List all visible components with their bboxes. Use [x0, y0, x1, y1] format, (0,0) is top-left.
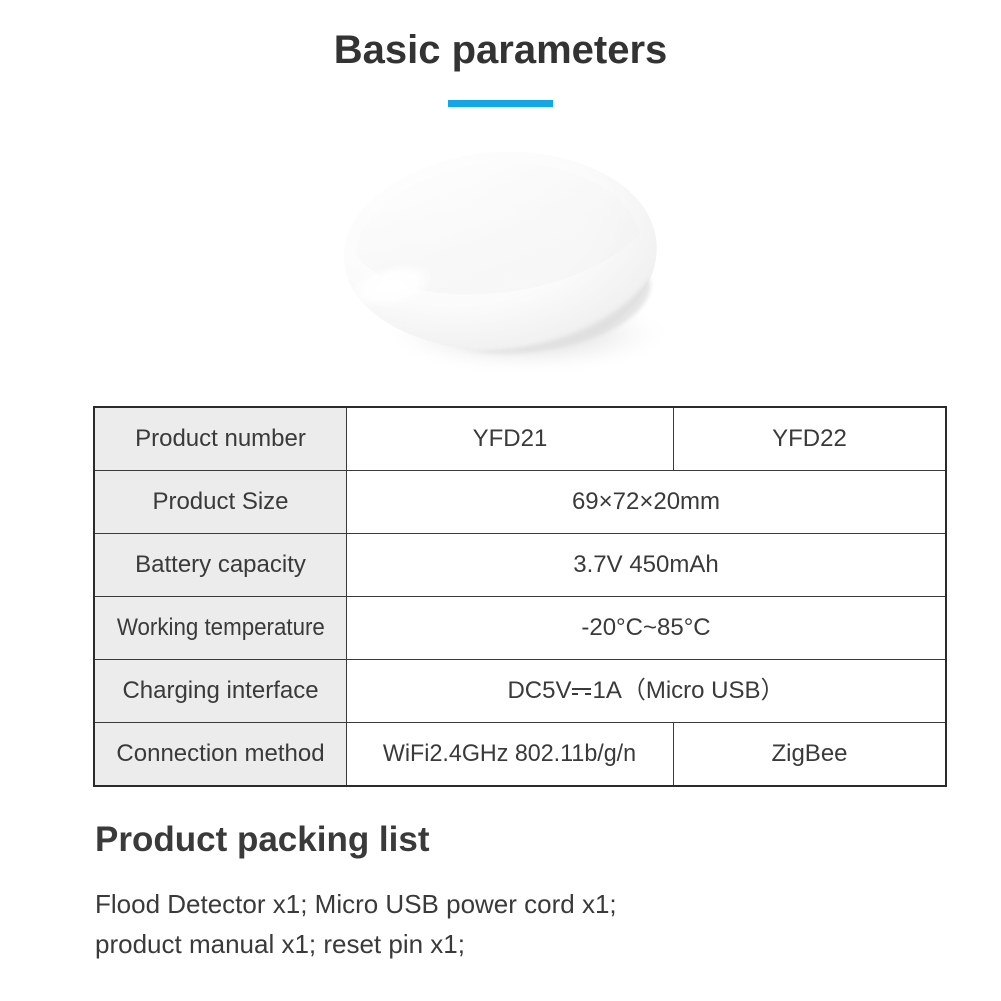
- spec-value-working-temperature: -20°C~85°C: [347, 597, 947, 660]
- specifications-table: Product number YFD21 YFD22 Product Size …: [93, 406, 919, 787]
- table-row: Working temperature -20°C~85°C: [94, 597, 946, 660]
- spec-label-charging-interface: Charging interface: [94, 660, 347, 723]
- packing-list-section: Product packing list Flood Detector x1; …: [95, 818, 945, 964]
- packing-list-body: Flood Detector x1; Micro USB power cord …: [95, 884, 945, 964]
- spec-label-connection-method: Connection method: [94, 723, 347, 787]
- page-title: Basic parameters: [0, 24, 1001, 76]
- spec-value-product-number-2: YFD22: [674, 407, 947, 471]
- product-image: [300, 138, 720, 386]
- spec-label-working-temperature: Working temperature: [94, 597, 347, 660]
- flood-detector-illustration: [300, 138, 720, 386]
- packing-list-line: product manual x1; reset pin x1;: [95, 924, 945, 964]
- packing-list-title: Product packing list: [95, 818, 945, 862]
- spec-value-connection-zigbee: ZigBee: [674, 723, 947, 787]
- table-row: Product number YFD21 YFD22: [94, 407, 946, 471]
- direct-current-icon: [572, 679, 591, 703]
- table-row: Connection method WiFi2.4GHz 802.11b/g/n…: [94, 723, 946, 787]
- spec-value-product-size: 69×72×20mm: [347, 471, 947, 534]
- spec-label-product-number: Product number: [94, 407, 347, 471]
- spec-label-battery-capacity: Battery capacity: [94, 534, 347, 597]
- spec-value-product-number-1: YFD21: [347, 407, 674, 471]
- table-row: Product Size 69×72×20mm: [94, 471, 946, 534]
- spec-label-product-size: Product Size: [94, 471, 347, 534]
- charging-voltage-prefix: DC5V: [507, 677, 571, 704]
- page-header: Basic parameters: [0, 24, 1001, 107]
- spec-value-battery-capacity: 3.7V 450mAh: [347, 534, 947, 597]
- spec-value-connection-wifi: WiFi2.4GHz 802.11b/g/n: [347, 723, 674, 787]
- table-row: Charging interface DC5V1A（Micro USB）: [94, 660, 946, 723]
- title-accent-bar: [448, 100, 553, 107]
- packing-list-line: Flood Detector x1; Micro USB power cord …: [95, 884, 945, 924]
- charging-current-suffix: 1A（Micro USB）: [592, 677, 784, 704]
- table-row: Battery capacity 3.7V 450mAh: [94, 534, 946, 597]
- spec-value-charging-interface: DC5V1A（Micro USB）: [347, 660, 947, 723]
